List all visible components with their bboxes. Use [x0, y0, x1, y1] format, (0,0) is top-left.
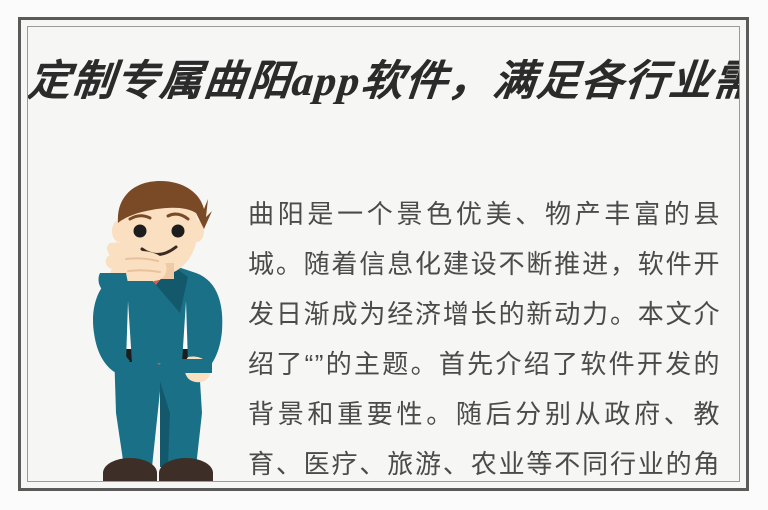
shoe-left-sole	[103, 471, 157, 482]
article-body-text: 曲阳是一个景色优美、物产丰富的县城。随着信息化建设不断推进，软件开发日渐成为经济…	[248, 175, 721, 482]
pocket-right	[182, 359, 212, 373]
thinking-businessman-illustration	[56, 181, 256, 482]
eye-left	[134, 225, 147, 238]
inner-border-frame: 定制专属曲阳app软件，满足各行业需求	[27, 26, 740, 482]
shoe-right-sole	[159, 471, 213, 482]
content-area: 曲阳是一个景色优美、物产丰富的县城。随着信息化建设不断推进，软件开发日渐成为经济…	[28, 175, 739, 481]
outer-border-frame: 定制专属曲阳app软件，满足各行业需求	[18, 17, 749, 491]
eye-right	[172, 225, 185, 238]
page-title: 定制专属曲阳app软件，满足各行业需求	[27, 59, 740, 105]
article-card: 定制专属曲阳app软件，满足各行业需求	[0, 0, 768, 510]
businessman-figure-svg	[56, 181, 256, 482]
ear-left	[112, 220, 126, 242]
